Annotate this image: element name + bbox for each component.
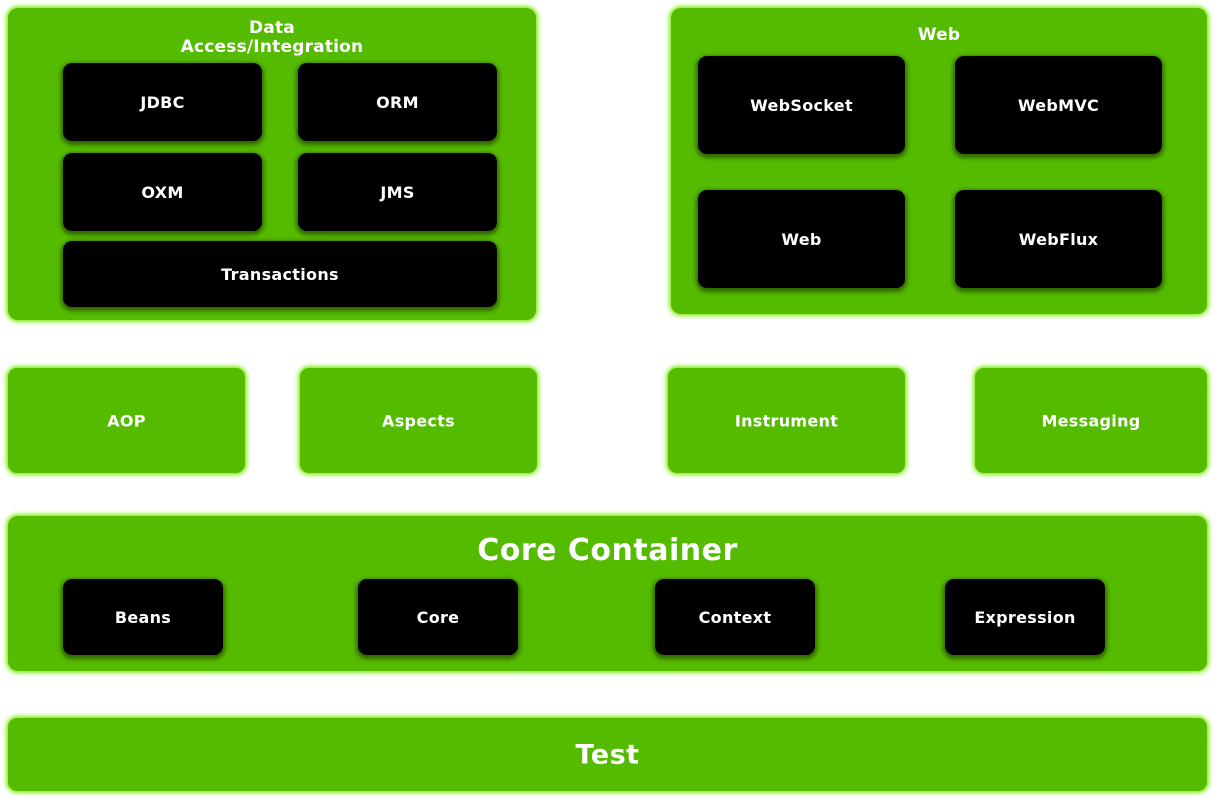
module-jms[interactable]: JMS — [298, 153, 497, 231]
module-webflux[interactable]: WebFlux — [955, 190, 1162, 288]
module-label-beans: Beans — [115, 608, 171, 627]
module-expression[interactable]: Expression — [945, 579, 1105, 655]
module-websocket[interactable]: WebSocket — [698, 56, 905, 154]
module-webmvc[interactable]: WebMVC — [955, 56, 1162, 154]
module-label-webflux: WebFlux — [1019, 230, 1099, 249]
module-test[interactable]: Test — [8, 718, 1207, 791]
spring-architecture-diagram: Data Access/Integration JDBC ORM OXM JMS… — [0, 0, 1215, 799]
module-context[interactable]: Context — [655, 579, 815, 655]
module-messaging[interactable]: Messaging — [975, 368, 1207, 473]
module-beans[interactable]: Beans — [63, 579, 223, 655]
module-transactions[interactable]: Transactions — [63, 241, 497, 307]
module-label-aop: AOP — [8, 411, 245, 430]
module-label-core: Core — [417, 608, 460, 627]
module-label-orm: ORM — [376, 93, 419, 112]
module-label-web: Web — [781, 230, 821, 249]
module-web[interactable]: Web — [698, 190, 905, 288]
panel-data-access-integration[interactable]: Data Access/Integration JDBC ORM OXM JMS… — [8, 8, 536, 320]
panel-title-core-container: Core Container — [8, 534, 1207, 568]
module-label-expression: Expression — [974, 608, 1075, 627]
module-label-context: Context — [699, 608, 772, 627]
module-label-transactions: Transactions — [221, 265, 339, 284]
module-oxm[interactable]: OXM — [63, 153, 262, 231]
panel-title-web: Web — [671, 26, 1207, 45]
module-orm[interactable]: ORM — [298, 63, 497, 141]
module-label-messaging: Messaging — [975, 411, 1207, 430]
panel-core-container[interactable]: Core Container Beans Core Context Expres… — [8, 516, 1207, 671]
module-instrument[interactable]: Instrument — [668, 368, 905, 473]
panel-web[interactable]: Web WebSocket WebMVC Web WebFlux — [671, 8, 1207, 314]
module-label-instrument: Instrument — [668, 411, 905, 430]
module-core[interactable]: Core — [358, 579, 518, 655]
module-label-oxm: OXM — [141, 183, 183, 202]
module-aop[interactable]: AOP — [8, 368, 245, 473]
module-label-jdbc: JDBC — [140, 93, 184, 112]
module-jdbc[interactable]: JDBC — [63, 63, 262, 141]
module-aspects[interactable]: Aspects — [300, 368, 537, 473]
panel-title-data-access-integration: Data Access/Integration — [8, 19, 536, 57]
module-label-webmvc: WebMVC — [1018, 96, 1099, 115]
module-label-websocket: WebSocket — [750, 96, 853, 115]
module-label-test: Test — [8, 739, 1207, 770]
module-label-jms: JMS — [380, 183, 414, 202]
module-label-aspects: Aspects — [300, 411, 537, 430]
